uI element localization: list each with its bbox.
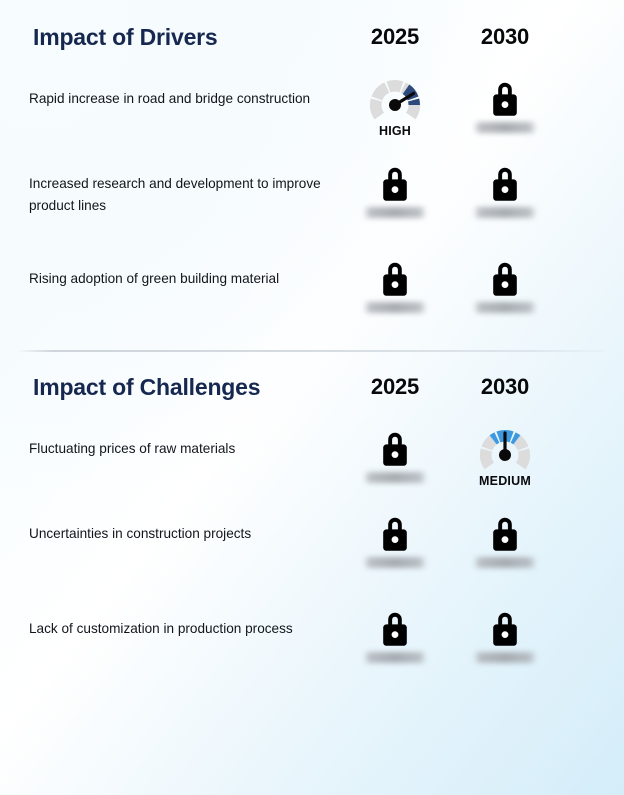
- redacted-value-bar: [364, 652, 426, 663]
- redacted-value-bar: [474, 207, 536, 218]
- lock-wrapper: [352, 507, 438, 559]
- redacted-value-bar: [364, 472, 426, 483]
- lock-icon: [488, 608, 522, 648]
- lock-icon: [378, 163, 412, 203]
- lock-icon: [378, 258, 412, 298]
- table-row: Rising adoption of green building materi…: [0, 268, 624, 350]
- lock-wrapper: [462, 157, 548, 209]
- impact-matrix-page: Impact of Drivers20252030Rapid increase …: [0, 0, 624, 795]
- redacted-value-bar: [364, 557, 426, 568]
- cell-gauge-c2025[interactable]: HIGH: [352, 72, 438, 158]
- redacted-value-bar: [364, 302, 426, 313]
- lock-wrapper: [352, 157, 438, 209]
- cell-gauge-c2030[interactable]: MEDIUM: [462, 422, 548, 508]
- lock-wrapper: [462, 252, 548, 304]
- column-header-2030: 2030: [462, 372, 548, 402]
- gauge-icon: [475, 422, 535, 478]
- section-divider: [18, 350, 606, 352]
- lock-icon: [488, 163, 522, 203]
- gauge-wrapper: HIGH: [352, 72, 438, 152]
- cell-locked-c2030[interactable]: [462, 507, 548, 593]
- gauge-level-label: MEDIUM: [462, 474, 548, 488]
- cell-locked-c2025[interactable]: [352, 157, 438, 243]
- row-label: Uncertainties in construction projects: [29, 523, 329, 545]
- lock-icon: [378, 428, 412, 468]
- redacted-value-bar: [474, 652, 536, 663]
- section-title: Impact of Drivers: [33, 22, 218, 52]
- section-title: Impact of Challenges: [33, 372, 260, 402]
- section-header: Impact of Drivers20252030: [0, 22, 624, 68]
- column-header-2025: 2025: [352, 372, 438, 402]
- row-label: Lack of customization in production proc…: [29, 618, 329, 640]
- section-header: Impact of Challenges20252030: [0, 372, 624, 418]
- column-header-2030: 2030: [462, 22, 548, 52]
- lock-icon: [488, 258, 522, 298]
- lock-icon: [488, 78, 522, 118]
- table-row: Uncertainties in construction projects: [0, 523, 624, 605]
- gauge-wrapper: MEDIUM: [462, 422, 548, 502]
- gauge-level-label: HIGH: [352, 124, 438, 138]
- lock-wrapper: [352, 422, 438, 474]
- table-row: Lack of customization in production proc…: [0, 618, 624, 700]
- cell-locked-c2030[interactable]: [462, 252, 548, 338]
- cell-locked-c2025[interactable]: [352, 422, 438, 508]
- redacted-value-bar: [474, 302, 536, 313]
- cell-locked-c2030[interactable]: [462, 157, 548, 243]
- lock-wrapper: [462, 72, 548, 124]
- lock-wrapper: [462, 507, 548, 559]
- row-label: Rising adoption of green building materi…: [29, 268, 329, 290]
- redacted-value-bar: [474, 557, 536, 568]
- cell-locked-c2030[interactable]: [462, 602, 548, 688]
- table-row: Increased research and development to im…: [0, 173, 624, 255]
- cell-locked-c2025[interactable]: [352, 507, 438, 593]
- redacted-value-bar: [364, 207, 426, 218]
- row-label: Fluctuating prices of raw materials: [29, 438, 329, 460]
- row-label: Increased research and development to im…: [29, 173, 329, 217]
- row-label: Rapid increase in road and bridge constr…: [29, 88, 329, 110]
- lock-icon: [488, 513, 522, 553]
- lock-icon: [378, 513, 412, 553]
- lock-icon: [378, 608, 412, 648]
- cell-locked-c2025[interactable]: [352, 252, 438, 338]
- lock-wrapper: [352, 602, 438, 654]
- gauge-icon: [365, 72, 425, 128]
- lock-wrapper: [352, 252, 438, 304]
- redacted-value-bar: [474, 122, 536, 133]
- cell-locked-c2025[interactable]: [352, 602, 438, 688]
- cell-locked-c2030[interactable]: [462, 72, 548, 158]
- column-header-2025: 2025: [352, 22, 438, 52]
- lock-wrapper: [462, 602, 548, 654]
